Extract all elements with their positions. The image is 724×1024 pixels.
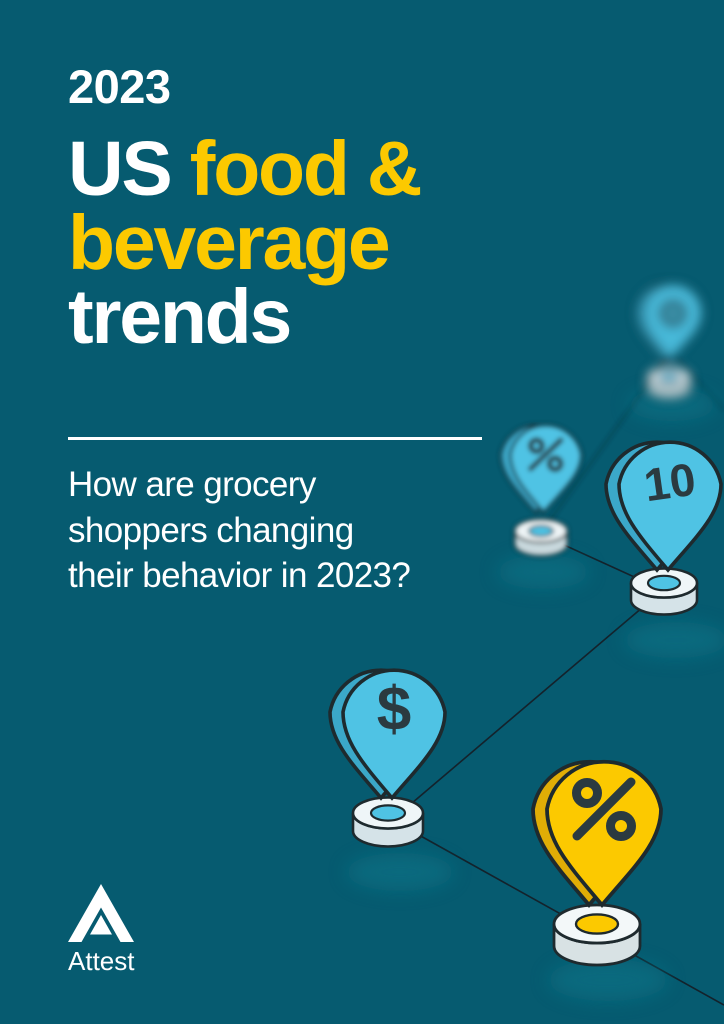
subheadline-line-2: shoppers changing bbox=[68, 511, 354, 550]
headline-word-trends: trends bbox=[68, 274, 290, 360]
attest-logo[interactable]: Attest bbox=[68, 884, 134, 974]
cover-year: 2023 bbox=[68, 63, 171, 110]
subheadline-line-3: their behavior in 2023? bbox=[68, 556, 410, 595]
cover-subheadline: How are grocery shoppers changing their … bbox=[68, 462, 518, 599]
report-cover-page: 10 $ bbox=[0, 0, 724, 1024]
attest-wordmark: Attest bbox=[68, 948, 134, 974]
title-divider-rule bbox=[68, 437, 482, 440]
subheadline-line-1: How are grocery bbox=[68, 465, 316, 504]
page-title: US food & beverage trends bbox=[68, 133, 538, 355]
triangle-delta-icon bbox=[68, 884, 134, 942]
